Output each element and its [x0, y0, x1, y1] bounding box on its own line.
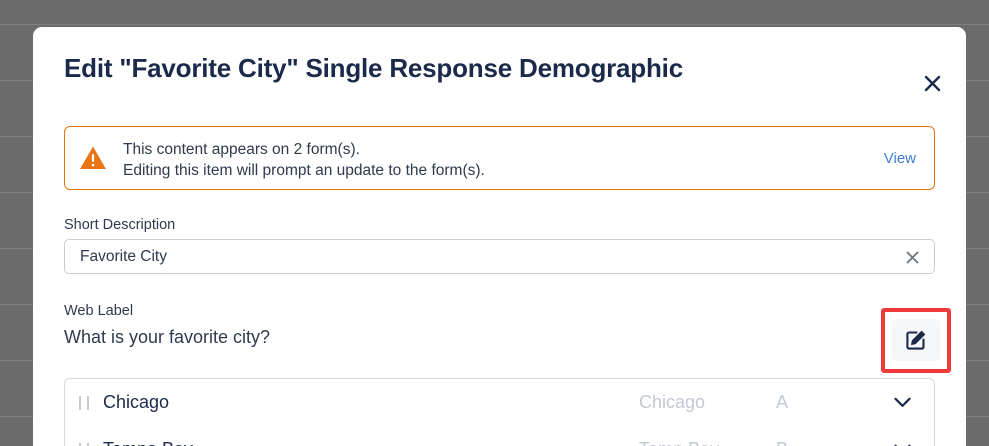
edit-web-label-button[interactable] — [892, 319, 940, 361]
forms-impact-alert: This content appears on 2 form(s). Editi… — [64, 126, 935, 190]
clear-short-description-button[interactable] — [902, 247, 922, 267]
short-description-label: Short Description — [64, 217, 175, 233]
short-description-input[interactable] — [80, 240, 880, 273]
expand-option-button[interactable] — [892, 393, 912, 413]
alert-message: This content appears on 2 form(s). Editi… — [123, 139, 485, 181]
modal-header: Edit "Favorite City" Single Response Dem… — [33, 27, 966, 111]
option-label: Tampa Bay — [103, 439, 193, 446]
close-icon — [923, 74, 942, 93]
alert-line-2: Editing this item will prompt an update … — [123, 160, 485, 181]
edit-demographic-modal: Edit "Favorite City" Single Response Dem… — [33, 27, 966, 446]
backdrop-row — [0, 24, 989, 25]
web-label-value: What is your favorite city? — [64, 327, 270, 348]
option-code: A — [776, 392, 788, 413]
view-forms-link[interactable]: View — [884, 150, 916, 167]
drag-handle-icon[interactable] — [79, 443, 89, 446]
drag-handle-icon[interactable] — [79, 396, 89, 410]
response-options-list: Chicago Chicago A Tampa Bay Tamp Bay B — [64, 378, 935, 446]
page-title: Edit "Favorite City" Single Response Dem… — [64, 53, 683, 84]
expand-option-button[interactable] — [892, 440, 912, 446]
alert-line-1: This content appears on 2 form(s). — [123, 139, 485, 160]
warning-triangle-icon — [79, 145, 107, 171]
list-item[interactable]: Tampa Bay Tamp Bay B — [65, 426, 934, 446]
chevron-down-icon — [894, 397, 911, 408]
screen: Edit "Favorite City" Single Response Dem… — [0, 0, 989, 446]
option-label: Chicago — [103, 392, 169, 413]
close-button[interactable] — [916, 67, 948, 99]
option-alternate-label: Chicago — [639, 392, 705, 413]
option-alternate-label: Tamp Bay — [639, 439, 719, 446]
short-description-field[interactable] — [64, 239, 935, 274]
edit-pencil-square-icon — [905, 329, 927, 351]
close-icon — [906, 251, 919, 264]
option-code: B — [776, 439, 788, 446]
web-label-label: Web Label — [64, 303, 133, 319]
list-item[interactable]: Chicago Chicago A — [65, 379, 934, 426]
